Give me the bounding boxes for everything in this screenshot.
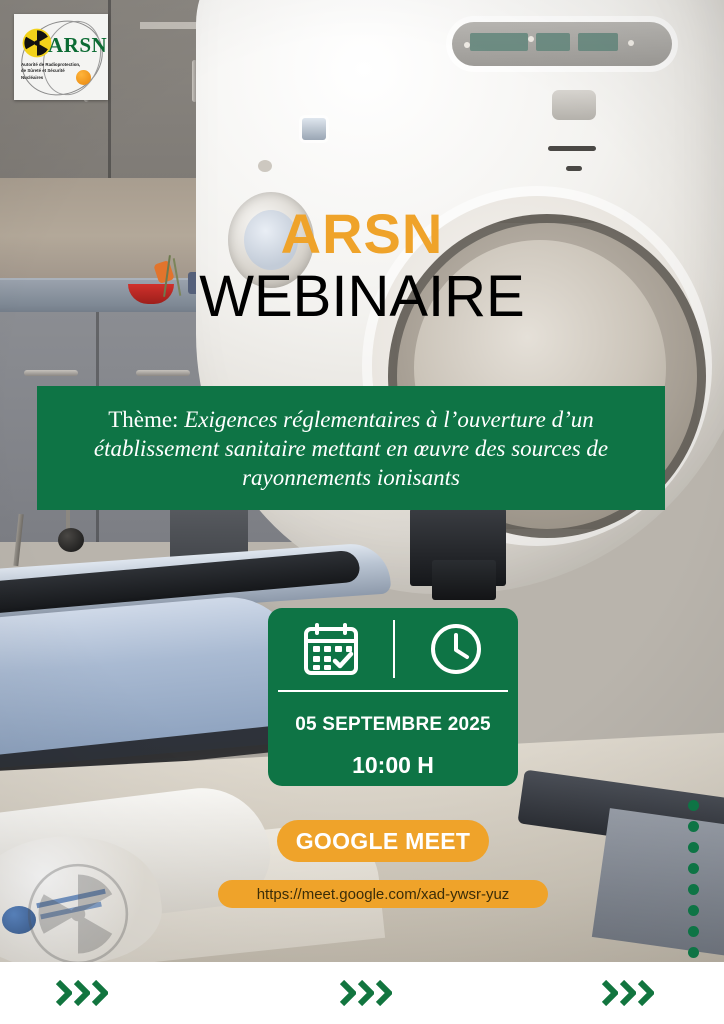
- logo-acronym: ARSN: [48, 33, 107, 58]
- datetime-divider-horizontal: [278, 690, 508, 692]
- decorative-dot: [688, 863, 699, 874]
- event-time: 10:00 H: [268, 752, 518, 779]
- background-photo-ct-scanner-room: [0, 0, 724, 1024]
- meeting-url-link[interactable]: https://meet.google.com/xad-ywsr-yuz: [218, 880, 548, 908]
- decorative-dot: [688, 905, 699, 916]
- decorative-dot: [688, 926, 699, 937]
- ct-badge: [302, 118, 326, 140]
- decorative-dot: [688, 884, 699, 895]
- webinar-poster: ARSN Autorité de Radioprotection, de Sûr…: [0, 0, 724, 1024]
- chevron-right-icon: [358, 980, 374, 1006]
- datetime-divider-vertical: [393, 620, 395, 678]
- drawer-handle: [24, 370, 78, 376]
- clock-icon: [429, 622, 483, 676]
- chevron-group: [56, 980, 108, 1006]
- chevron-right-icon: [602, 980, 618, 1006]
- google-meet-button[interactable]: GOOGLE MEET: [277, 820, 489, 862]
- clock-icon-cell: [393, 608, 518, 690]
- black-equipment-arm: [432, 560, 496, 600]
- ct-control-panel: [452, 22, 672, 66]
- chevron-group: [340, 980, 392, 1006]
- chevron-group: [602, 980, 654, 1006]
- chevron-right-icon: [620, 980, 636, 1006]
- cabinet-seam: [108, 0, 111, 180]
- decorative-dots-column: [688, 800, 702, 989]
- decorative-dot: [688, 800, 699, 811]
- ct-indicator: [258, 160, 272, 172]
- arsn-logo: ARSN Autorité de Radioprotection, de Sûr…: [14, 14, 108, 100]
- theme-banner: Thème: Exigences réglementaires à l’ouve…: [37, 386, 665, 510]
- chevron-right-icon: [376, 980, 392, 1006]
- ct-button: [552, 90, 596, 120]
- datetime-card: 05 SEPTEMBRE 2025 10:00 H: [268, 608, 518, 786]
- chevron-right-icon: [340, 980, 356, 1006]
- theme-text: Thème: Exigences réglementaires à l’ouve…: [37, 405, 665, 492]
- datetime-icon-row: [268, 608, 518, 690]
- chevron-right-icon: [92, 980, 108, 1006]
- chevron-right-icon: [74, 980, 90, 1006]
- cabinet-label: [140, 22, 202, 29]
- chevron-right-icon: [56, 980, 72, 1006]
- decorative-dot: [688, 947, 699, 958]
- chevron-right-icon: [638, 980, 654, 1006]
- decorative-dot: [688, 821, 699, 832]
- poster-title-webinaire: WEBINAIRE: [0, 268, 724, 326]
- ct-slot: [548, 146, 596, 151]
- event-date: 05 SEPTEMBRE 2025: [268, 714, 518, 736]
- poster-title-arsn: ARSN: [0, 206, 724, 262]
- drawer-handle: [136, 370, 190, 376]
- calendar-icon-cell: [268, 608, 393, 690]
- floor-panel-right: [592, 808, 724, 962]
- theme-label: Thème:: [108, 407, 178, 432]
- equipment-knob: [58, 528, 84, 552]
- poster-footer: [0, 962, 724, 1024]
- decorative-dot: [688, 842, 699, 853]
- logo-orange-ball-icon: [76, 70, 91, 85]
- ct-slot: [566, 166, 582, 171]
- radiation-trefoil-watermark-icon: [26, 862, 130, 966]
- calendar-check-icon: [303, 622, 359, 676]
